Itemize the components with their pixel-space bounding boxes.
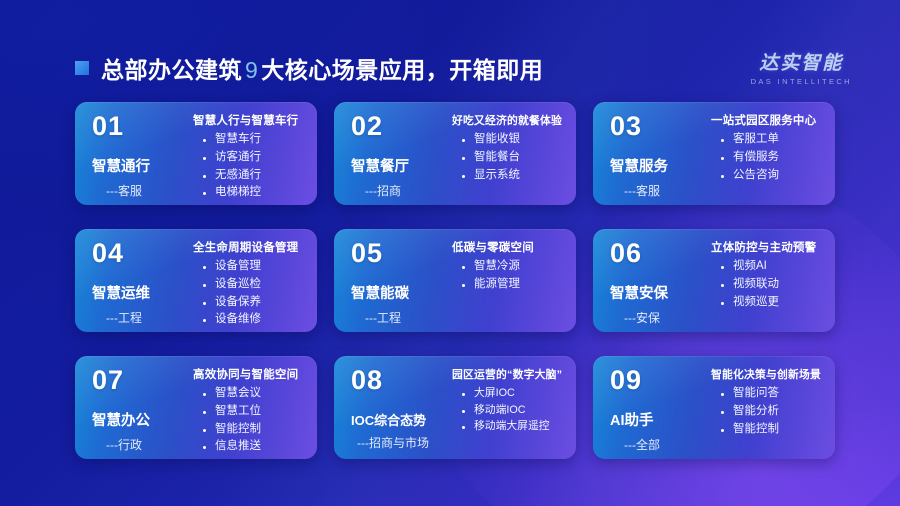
card-department: ---工程 [106,309,193,326]
list-item: 设备维修 [201,311,307,329]
card-department: ---工程 [365,309,452,326]
card-right-09: 智能化决策与创新场景 智能问答 智能分析 智能控制 [711,356,835,459]
slide-canvas: 总部办公建筑9大核心场景应用，开箱即用 达实智能 DAS INTELLITECH… [0,0,900,506]
card-title: AI助手 [610,414,711,430]
card-left-09: 09 AI助手 ---全部 [593,356,711,459]
card-right-04: 全生命周期设备管理 设备管理 设备巡检 设备保养 设备维修 [193,229,317,332]
card-department: ---招商 [365,182,452,199]
card-feature-list: 视频AI 视频联动 视频巡更 [711,258,825,311]
scenario-card-06[interactable]: 06 智慧安保 ---安保 立体防控与主动预警 视频AI 视频联动 视频巡更 [593,229,835,332]
card-left-06: 06 智慧安保 ---安保 [593,229,711,332]
list-item: 智慧车行 [201,131,307,149]
list-item: 设备管理 [201,258,307,276]
card-right-08: 园区运营的“数字大脑” 大屏IOC 移动端IOC 移动端大屏遥控 [452,356,576,459]
page-title-number: 9 [242,57,261,83]
card-right-06: 立体防控与主动预警 视频AI 视频联动 视频巡更 [711,229,835,332]
card-subtitle: 园区运营的“数字大脑” [452,366,566,382]
card-title: 智慧餐厅 [351,160,452,176]
card-left-05: 05 智慧能碳 ---工程 [334,229,452,332]
card-number: 09 [610,367,711,394]
card-subtitle: 智能化决策与创新场景 [711,366,825,382]
card-title: 智慧安保 [610,287,711,303]
list-item: 有偿服务 [719,149,825,167]
card-number: 05 [351,240,452,267]
card-number: 07 [92,367,193,394]
list-item: 能源管理 [460,276,566,294]
scenario-card-08[interactable]: 08 IOC综合态势 ---招商与市场 园区运营的“数字大脑” 大屏IOC 移动… [334,356,576,459]
card-subtitle: 智慧人行与智慧车行 [193,112,307,128]
list-item: 智能收银 [460,131,566,149]
scenario-card-grid: 01 智慧通行 ---客服 智慧人行与智慧车行 智慧车行 访客通行 无感通行 电… [75,102,835,459]
card-number: 08 [351,367,452,394]
card-department: ---行政 [106,436,193,453]
card-title: 智慧办公 [92,414,193,430]
square-bullet-icon [75,61,89,75]
card-left-01: 01 智慧通行 ---客服 [75,102,193,205]
page-title-suffix: 大核心场景应用，开箱即用 [261,57,543,83]
card-feature-list: 智慧车行 访客通行 无感通行 电梯梯控 [193,131,307,202]
list-item: 智能问答 [719,385,825,403]
list-item: 显示系统 [460,167,566,185]
card-right-02: 好吃又经济的就餐体验 智能收银 智能餐台 显示系统 [452,102,576,205]
list-item: 客服工单 [719,131,825,149]
card-number: 01 [92,113,193,140]
card-title: 智慧运维 [92,287,193,303]
card-department: ---全部 [624,436,711,453]
card-title: IOC综合态势 [351,414,452,428]
card-number: 03 [610,113,711,140]
card-title: 智慧通行 [92,160,193,176]
card-left-03: 03 智慧服务 ---客服 [593,102,711,205]
scenario-card-01[interactable]: 01 智慧通行 ---客服 智慧人行与智慧车行 智慧车行 访客通行 无感通行 电… [75,102,317,205]
list-item: 智能分析 [719,403,825,421]
scenario-card-05[interactable]: 05 智慧能碳 ---工程 低碳与零碳空间 智慧冷源 能源管理 [334,229,576,332]
scenario-card-02[interactable]: 02 智慧餐厅 ---招商 好吃又经济的就餐体验 智能收银 智能餐台 显示系统 [334,102,576,205]
list-item: 设备巡检 [201,276,307,294]
list-item: 智能控制 [201,421,307,439]
list-item: 无感通行 [201,167,307,185]
list-item: 信息推送 [201,438,307,456]
list-item: 智能控制 [719,421,825,439]
card-subtitle: 低碳与零碳空间 [452,239,566,255]
card-left-02: 02 智慧餐厅 ---招商 [334,102,452,205]
list-item: 移动端大屏遥控 [460,418,566,435]
card-subtitle: 立体防控与主动预警 [711,239,825,255]
brand-logo-cn: 达实智能 [751,48,852,75]
list-item: 设备保养 [201,294,307,312]
card-subtitle: 全生命周期设备管理 [193,239,307,255]
card-right-03: 一站式园区服务中心 客服工单 有偿服务 公告咨询 [711,102,835,205]
card-number: 04 [92,240,193,267]
card-feature-list: 设备管理 设备巡检 设备保养 设备维修 [193,258,307,329]
list-item: 移动端IOC [460,402,566,419]
list-item: 电梯梯控 [201,184,307,202]
card-feature-list: 客服工单 有偿服务 公告咨询 [711,131,825,184]
scenario-card-03[interactable]: 03 智慧服务 ---客服 一站式园区服务中心 客服工单 有偿服务 公告咨询 [593,102,835,205]
card-title: 智慧能碳 [351,287,452,303]
list-item: 智慧会议 [201,385,307,403]
page-title: 总部办公建筑9大核心场景应用，开箱即用 [101,51,543,85]
card-right-05: 低碳与零碳空间 智慧冷源 能源管理 [452,229,576,332]
card-feature-list: 智能问答 智能分析 智能控制 [711,385,825,438]
page-header: 总部办公建筑9大核心场景应用，开箱即用 [75,48,840,88]
card-left-07: 07 智慧办公 ---行政 [75,356,193,459]
card-number: 06 [610,240,711,267]
card-right-07: 高效协同与智能空间 智慧会议 智慧工位 智能控制 信息推送 [193,356,317,459]
card-department: ---客服 [624,182,711,199]
card-title: 智慧服务 [610,160,711,176]
card-left-04: 04 智慧运维 ---工程 [75,229,193,332]
scenario-card-04[interactable]: 04 智慧运维 ---工程 全生命周期设备管理 设备管理 设备巡检 设备保养 设… [75,229,317,332]
card-subtitle: 一站式园区服务中心 [711,112,825,128]
card-subtitle: 好吃又经济的就餐体验 [452,112,566,128]
list-item: 视频AI [719,258,825,276]
scenario-card-09[interactable]: 09 AI助手 ---全部 智能化决策与创新场景 智能问答 智能分析 智能控制 [593,356,835,459]
list-item: 智慧工位 [201,403,307,421]
card-number: 02 [351,113,452,140]
brand-logo: 达实智能 DAS INTELLITECH [751,48,852,86]
list-item: 视频巡更 [719,294,825,312]
brand-logo-en: DAS INTELLITECH [751,77,852,86]
card-department: ---招商与市场 [357,434,452,451]
card-feature-list: 智能收银 智能餐台 显示系统 [452,131,566,184]
list-item: 视频联动 [719,276,825,294]
card-department: ---客服 [106,182,193,199]
card-subtitle: 高效协同与智能空间 [193,366,307,382]
card-left-08: 08 IOC综合态势 ---招商与市场 [334,356,452,459]
list-item: 智慧冷源 [460,258,566,276]
scenario-card-07[interactable]: 07 智慧办公 ---行政 高效协同与智能空间 智慧会议 智慧工位 智能控制 信… [75,356,317,459]
list-item: 访客通行 [201,149,307,167]
card-department: ---安保 [624,309,711,326]
card-feature-list: 智慧冷源 能源管理 [452,258,566,294]
card-feature-list: 智慧会议 智慧工位 智能控制 信息推送 [193,385,307,456]
card-feature-list: 大屏IOC 移动端IOC 移动端大屏遥控 [452,385,566,435]
card-right-01: 智慧人行与智慧车行 智慧车行 访客通行 无感通行 电梯梯控 [193,102,317,205]
list-item: 智能餐台 [460,149,566,167]
list-item: 大屏IOC [460,385,566,402]
list-item: 公告咨询 [719,167,825,185]
page-title-prefix: 总部办公建筑 [101,57,242,83]
